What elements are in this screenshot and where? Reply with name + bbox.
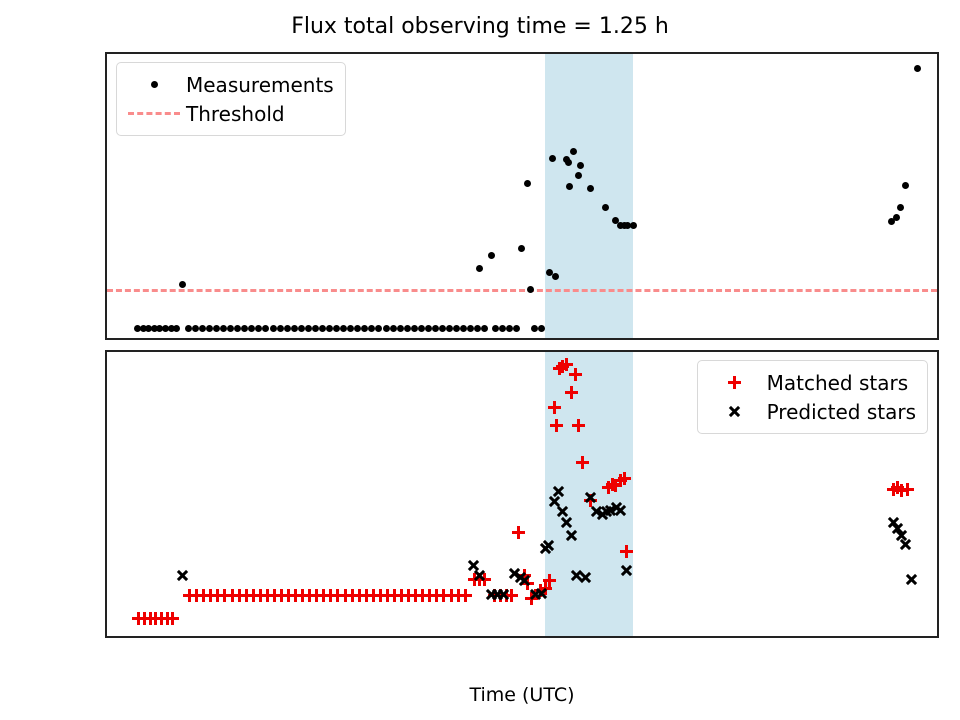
data-point-dot — [390, 325, 397, 332]
bottom-panel-axes: Matched stars Predicted stars Count 0100… — [105, 350, 939, 638]
data-point-dot — [361, 325, 368, 332]
data-point-cross — [541, 538, 556, 553]
data-point-dot — [518, 245, 525, 252]
data-point-dot — [179, 281, 186, 288]
y-axis-tick — [105, 477, 107, 479]
data-point-dot — [499, 325, 506, 332]
data-point-cross — [534, 586, 549, 601]
x-axis-tick — [471, 338, 473, 340]
top-panel-legend: Measurements Threshold — [116, 62, 346, 136]
data-point-cross — [496, 587, 511, 602]
data-point-cross — [904, 572, 919, 587]
x-axis-tick — [330, 636, 332, 638]
data-point-dot — [368, 325, 375, 332]
data-point-dot — [439, 325, 446, 332]
legend-label-matched-stars: Matched stars — [763, 371, 909, 395]
data-point-plus — [549, 418, 564, 433]
data-point-dot — [192, 325, 199, 332]
data-point-dot — [418, 325, 425, 332]
legend-entry-predicted-stars: Predicted stars — [707, 397, 916, 426]
data-point-cross — [175, 568, 190, 583]
dashed-line-icon — [126, 103, 182, 125]
data-point-dot — [220, 325, 227, 332]
data-point-plus — [568, 367, 583, 382]
data-point-dot — [506, 325, 513, 332]
data-point-dot — [284, 325, 291, 332]
data-point-dot — [340, 325, 347, 332]
x-axis-tick — [188, 338, 190, 340]
y-axis-tick — [105, 328, 107, 330]
y-axis-tick — [105, 169, 107, 171]
x-axis-tick — [330, 338, 332, 340]
data-point-dot — [291, 325, 298, 332]
data-point-dot — [474, 325, 481, 332]
legend-entry-measurements: Measurements — [126, 70, 334, 99]
x-axis-tick — [612, 636, 614, 638]
data-point-cross — [517, 573, 532, 588]
data-point-plus — [547, 400, 562, 415]
data-point-plus — [564, 385, 579, 400]
data-point-dot — [255, 325, 262, 332]
y-axis-tick — [105, 620, 107, 622]
data-point-dot — [173, 325, 180, 332]
data-point-dot — [914, 65, 921, 72]
data-point-dot — [347, 325, 354, 332]
data-point-dot — [453, 325, 460, 332]
data-point-plus — [511, 525, 526, 540]
data-point-dot — [375, 325, 382, 332]
y-axis-tick — [105, 90, 107, 92]
y-axis-tick — [105, 549, 107, 551]
y-axis-tick — [105, 406, 107, 408]
plus-marker-icon — [707, 372, 763, 394]
data-point-dot — [492, 325, 499, 332]
legend-label-predicted-stars: Predicted stars — [763, 400, 916, 424]
x-axis-tick — [895, 636, 897, 638]
data-point-dot — [326, 325, 333, 332]
data-point-dot — [432, 325, 439, 332]
data-point-dot — [531, 325, 538, 332]
data-point-dot — [602, 204, 609, 211]
x-axis-tick — [612, 338, 614, 340]
data-point-plus — [617, 471, 632, 486]
data-point-dot — [524, 180, 531, 187]
data-point-cross — [564, 528, 579, 543]
dot-marker-icon — [126, 74, 182, 96]
data-point-dot — [305, 325, 312, 332]
data-point-dot — [446, 325, 453, 332]
data-point-cross — [619, 563, 634, 578]
figure-root: Flux total observing time = 1.25 h Measu… — [0, 0, 960, 720]
data-point-dot — [575, 172, 582, 179]
legend-entry-threshold: Threshold — [126, 99, 334, 128]
data-point-dot — [234, 325, 241, 332]
data-point-dot — [425, 325, 432, 332]
data-point-dot — [460, 325, 467, 332]
data-point-dot — [481, 325, 488, 332]
data-point-dot — [897, 204, 904, 211]
legend-label-threshold: Threshold — [182, 102, 285, 126]
x-axis-tick — [753, 636, 755, 638]
data-point-dot — [227, 325, 234, 332]
data-point-dot — [467, 325, 474, 332]
data-point-dot — [404, 325, 411, 332]
legend-label-measurements: Measurements — [182, 73, 334, 97]
data-point-plus — [458, 588, 473, 603]
data-point-dot — [893, 214, 900, 221]
highlight-band — [545, 54, 633, 338]
x-axis-tick — [471, 636, 473, 638]
data-point-cross — [613, 503, 628, 518]
threshold-line — [107, 289, 937, 292]
data-point-dot — [213, 325, 220, 332]
data-point-plus — [571, 418, 586, 433]
data-point-plus — [900, 482, 915, 497]
data-point-dot — [241, 325, 248, 332]
data-point-dot — [199, 325, 206, 332]
data-point-dot — [902, 182, 909, 189]
data-point-dot — [333, 325, 340, 332]
legend-entry-matched-stars: Matched stars — [707, 368, 916, 397]
data-point-dot — [206, 325, 213, 332]
data-point-dot — [538, 325, 545, 332]
data-point-dot — [397, 325, 404, 332]
cross-marker-icon — [707, 401, 763, 423]
data-point-dot — [185, 325, 192, 332]
data-point-dot — [488, 252, 495, 259]
y-axis-tick — [105, 249, 107, 251]
data-point-cross — [472, 568, 487, 583]
data-point-dot — [298, 325, 305, 332]
data-point-dot — [513, 325, 520, 332]
data-point-plus — [575, 455, 590, 470]
data-point-cross — [578, 570, 593, 585]
x-axis-tick — [188, 636, 190, 638]
data-point-dot — [549, 155, 556, 162]
data-point-dot — [476, 265, 483, 272]
data-point-cross — [551, 484, 566, 499]
chart-title: Flux total observing time = 1.25 h — [0, 14, 960, 39]
data-point-dot — [577, 162, 584, 169]
data-point-dot — [312, 325, 319, 332]
data-point-cross — [583, 490, 598, 505]
data-point-dot — [262, 325, 269, 332]
data-point-plus — [619, 544, 634, 559]
top-panel-axes: Measurements Threshold Matched/Predicted… — [105, 52, 939, 340]
data-point-dot — [248, 325, 255, 332]
data-point-cross — [898, 537, 913, 552]
data-point-dot — [319, 325, 326, 332]
x-axis-label: Time (UTC) — [105, 684, 939, 706]
data-point-dot — [383, 325, 390, 332]
data-point-plus — [165, 611, 180, 626]
bottom-panel-legend: Matched stars Predicted stars — [697, 360, 928, 434]
data-point-dot — [411, 325, 418, 332]
data-point-dot — [277, 325, 284, 332]
data-point-dot — [630, 222, 637, 229]
data-point-dot — [270, 325, 277, 332]
data-point-dot — [354, 325, 361, 332]
x-axis-tick — [895, 338, 897, 340]
x-axis-tick — [753, 338, 755, 340]
